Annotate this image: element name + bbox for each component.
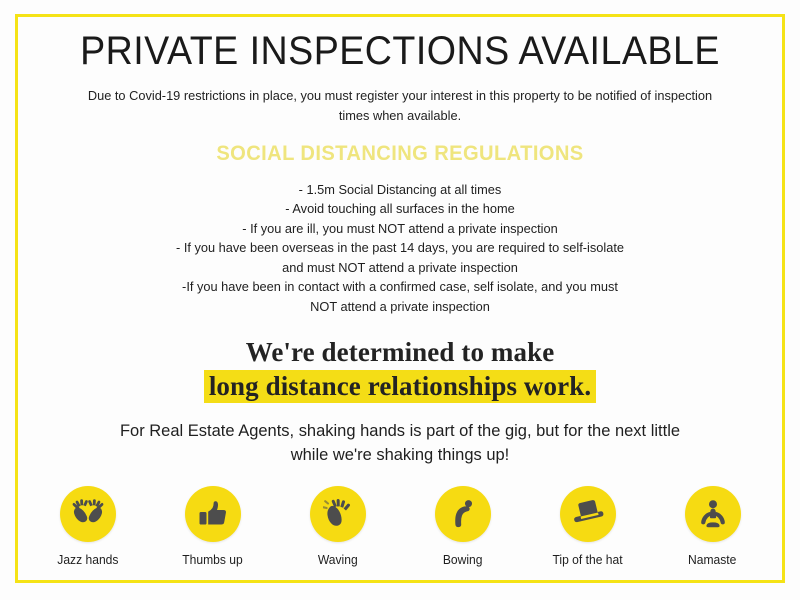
namaste-icon <box>685 486 741 542</box>
icon-label: Bowing <box>443 553 483 567</box>
list-item: - If you are ill, you must NOT attend a … <box>57 219 744 239</box>
page-title: PRIVATE INSPECTIONS AVAILABLE <box>67 30 733 72</box>
list-item: - If you have been overseas in the past … <box>57 238 744 258</box>
list-item: -If you have been in contact with a conf… <box>57 277 744 297</box>
slogan-line-2-highlighted: long distance relationships work. <box>204 370 596 403</box>
jazz-hands-icon <box>60 486 116 542</box>
waving-hand-icon <box>310 486 366 542</box>
icon-label: Waving <box>318 553 358 567</box>
slogan: We're determined to make long distance r… <box>46 336 754 403</box>
intro-paragraph: Due to Covid-19 restrictions in place, y… <box>80 86 720 126</box>
poster-content: PRIVATE INSPECTIONS AVAILABLE Due to Cov… <box>0 0 800 567</box>
slogan-line-2-wrapper: long distance relationships work. <box>46 370 754 403</box>
covid-inspection-poster: PRIVATE INSPECTIONS AVAILABLE Due to Cov… <box>0 0 800 600</box>
list-item: and must NOT attend a private inspection <box>57 258 744 278</box>
bowing-person-icon <box>435 486 491 542</box>
closing-paragraph: For Real Estate Agents, shaking hands is… <box>99 419 700 467</box>
greeting-item-namaste: Namaste <box>671 486 754 567</box>
greeting-item-waving: Waving <box>296 486 379 567</box>
list-item: NOT attend a private inspection <box>57 297 744 317</box>
social-distancing-rules-list: - 1.5m Social Distancing at all times - … <box>46 180 754 317</box>
greeting-item-jazz-hands: Jazz hands <box>46 486 129 567</box>
list-item: - 1.5m Social Distancing at all times <box>57 180 744 200</box>
greeting-item-bowing: Bowing <box>421 486 504 567</box>
greeting-item-thumbs-up: Thumbs up <box>171 486 254 567</box>
greeting-icons-row: Jazz hands Thumbs up <box>46 486 754 567</box>
icon-label: Thumbs up <box>182 553 242 567</box>
list-item: - Avoid touching all surfaces in the hom… <box>57 199 744 219</box>
section-heading-social-distancing: SOCIAL DISTANCING REGULATIONS <box>60 142 740 166</box>
icon-label: Tip of the hat <box>552 553 622 567</box>
icon-label: Jazz hands <box>57 553 118 567</box>
slogan-line-1: We're determined to make <box>46 336 754 369</box>
thumbs-up-icon <box>185 486 241 542</box>
icon-label: Namaste <box>688 553 736 567</box>
top-hat-icon <box>560 486 616 542</box>
greeting-item-tip-of-the-hat: Tip of the hat <box>546 486 629 567</box>
